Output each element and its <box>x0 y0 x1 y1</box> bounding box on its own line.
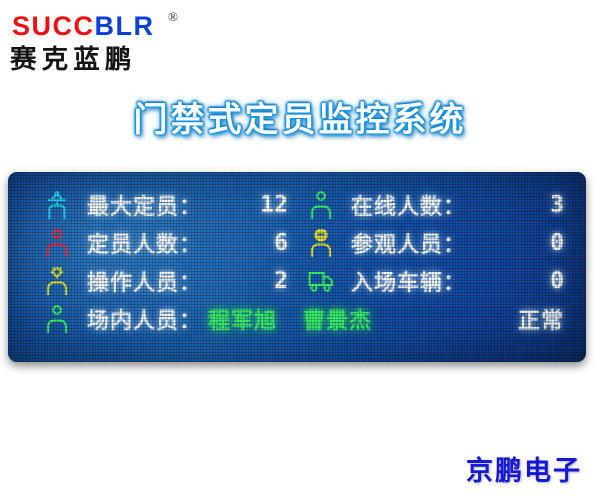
brand-logo: SUCCBLR ® 赛克蓝鹏 <box>8 8 208 70</box>
led-row-online-count: 在线人数： 3 <box>308 186 586 223</box>
led-row-visitor-count: 参观人员： 0 <box>308 224 586 261</box>
brand-latin-part-b: BLR <box>95 11 155 41</box>
onsite-name-list: 程军旭 曹景杰 <box>208 300 498 337</box>
led-label: 操作人员： <box>87 265 202 297</box>
brand-latin-wordmark: SUCCBLR <box>12 11 155 42</box>
person-icon <box>44 228 70 258</box>
led-label: 入场车辆： <box>351 265 466 297</box>
led-row-operator-count: 操作人员： 2 <box>44 262 306 299</box>
led-value: 0 <box>550 230 586 256</box>
brand-chinese-wordmark: 赛克蓝鹏 <box>10 39 136 76</box>
led-label: 参观人员： <box>351 227 466 259</box>
person-onsite-icon <box>44 304 70 334</box>
brand-latin-part-a: SUCC <box>12 11 95 41</box>
person-visitor-icon <box>308 228 334 258</box>
led-value: 6 <box>274 230 306 256</box>
led-display-panel: 最大定员： 12 定员人数： 6 <box>8 172 586 362</box>
led-value: 12 <box>260 192 306 218</box>
person-hardhat-icon <box>44 190 70 220</box>
person-online-icon <box>308 190 334 220</box>
list-item: 曹景杰 <box>303 303 372 335</box>
led-row-registered-count: 定员人数： 6 <box>44 224 306 261</box>
registered-trademark-icon: ® <box>168 9 178 25</box>
led-label: 在线人数： <box>351 189 466 221</box>
list-item: 程军旭 <box>208 303 277 335</box>
led-row-max-capacity: 最大定员： 12 <box>44 186 306 223</box>
status-badge: 正常 <box>518 300 564 337</box>
footer-brand: 京鹏电子 <box>466 449 582 488</box>
led-value: 3 <box>550 192 586 218</box>
led-label: 场内人员： <box>87 303 202 335</box>
page-title: 门禁式定员监控系统 <box>0 92 600 141</box>
led-label: 定员人数： <box>87 227 202 259</box>
truck-icon <box>308 266 334 296</box>
led-content: 最大定员： 12 定员人数： 6 <box>8 172 586 362</box>
led-row-vehicle-count: 入场车辆： 0 <box>308 262 586 299</box>
led-value: 0 <box>550 268 586 294</box>
person-operator-icon <box>44 266 70 296</box>
led-value: 2 <box>274 268 306 294</box>
led-label: 最大定员： <box>87 189 202 221</box>
